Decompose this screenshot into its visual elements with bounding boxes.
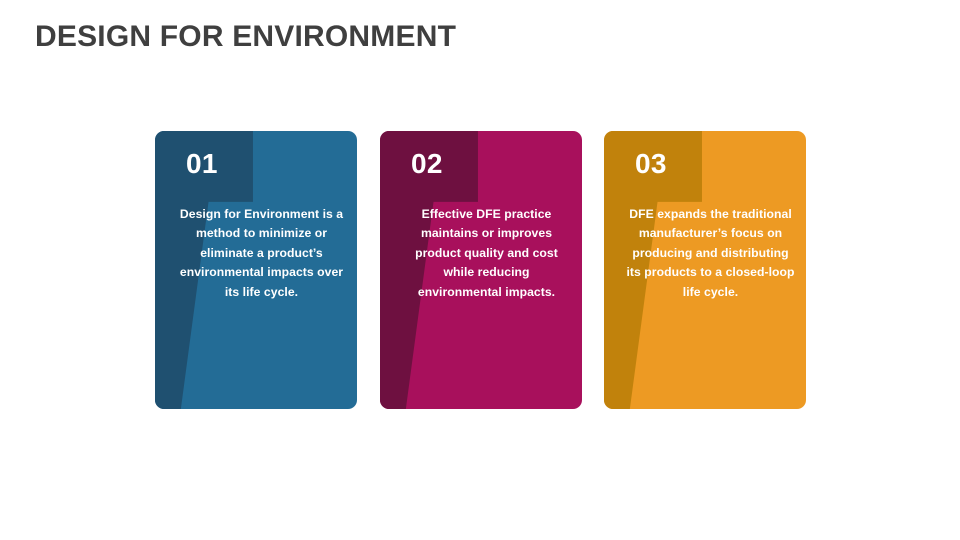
card-group: 01 Design for Environment is a method to… (155, 131, 806, 409)
card-number-label: 01 (186, 147, 218, 180)
card-number-label: 02 (411, 147, 443, 180)
info-card-03[interactable]: 03 DFE expands the traditional manufactu… (604, 131, 806, 409)
slide-canvas: DESIGN FOR ENVIRONMENT 01 Design for Env… (0, 0, 960, 540)
card-description: DFE expands the traditional manufacturer… (624, 205, 797, 302)
info-card-01[interactable]: 01 Design for Environment is a method to… (155, 131, 357, 409)
card-description: Effective DFE practice maintains or impr… (400, 205, 573, 302)
page-title: DESIGN FOR ENVIRONMENT (35, 19, 456, 55)
card-description: Design for Environment is a method to mi… (175, 205, 348, 302)
card-number-label: 03 (635, 147, 667, 180)
info-card-02[interactable]: 02 Effective DFE practice maintains or i… (380, 131, 582, 409)
